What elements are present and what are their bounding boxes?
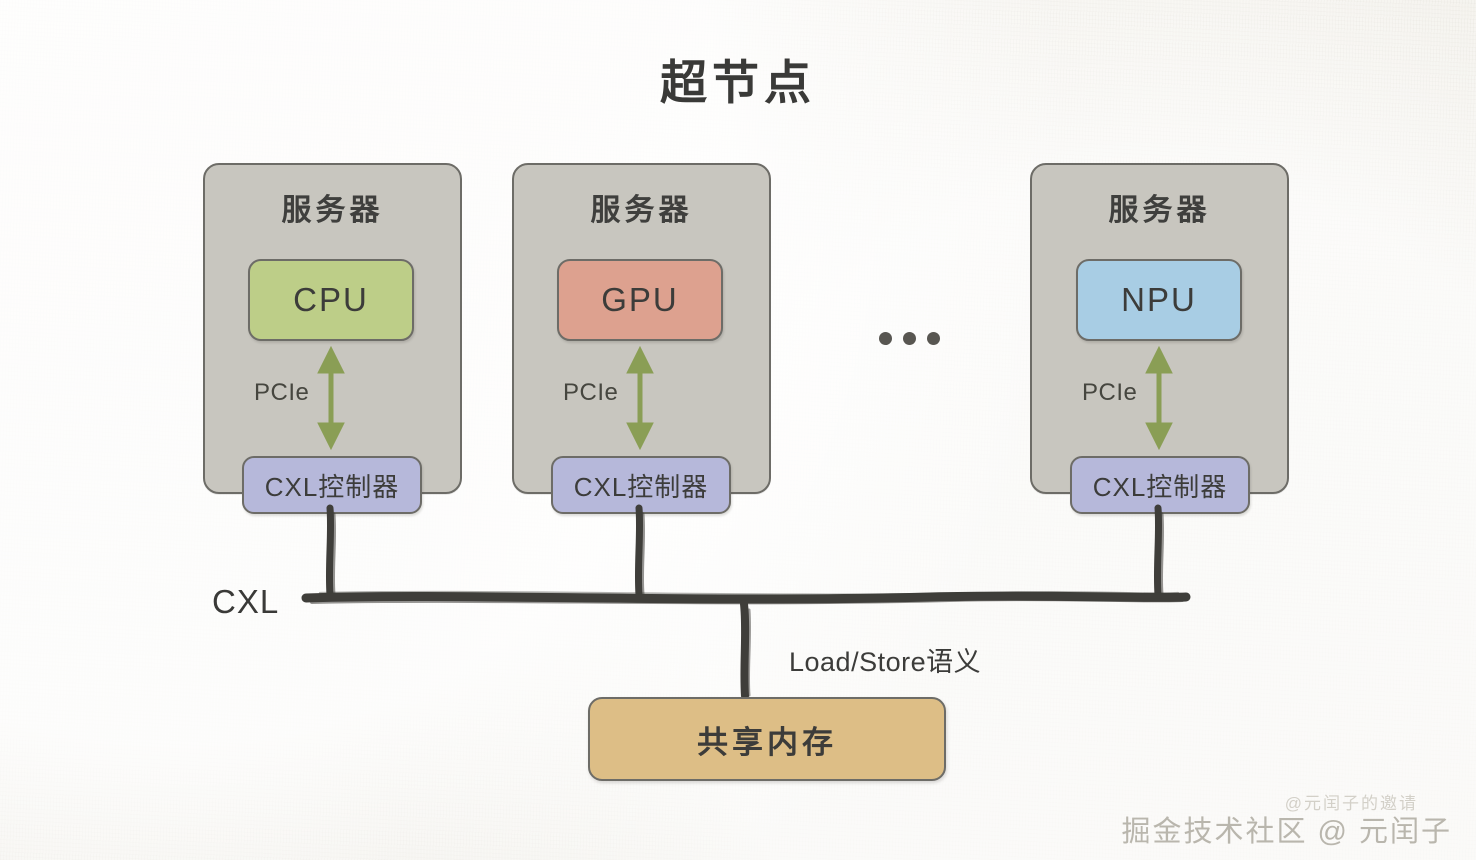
processor-chip-npu[interactable]: NPU — [1076, 259, 1242, 341]
server-label-2: 服务器 — [514, 185, 769, 229]
pcie-label-1: PCIe — [254, 379, 309, 407]
slide-canvas: 超节点 服务器 CPU PCIe CXL控制器 服务器 GPU — [0, 0, 1476, 860]
ellipsis-dot-2 — [903, 332, 916, 345]
processor-chip-npu-label: NPU — [1121, 281, 1197, 319]
pcie-label-3: PCIe — [1082, 379, 1137, 407]
server-label-3: 服务器 — [1032, 185, 1287, 229]
page-title: 超节点 — [0, 44, 1476, 113]
processor-chip-gpu-label: GPU — [601, 281, 679, 319]
pcie-link-1: PCIe — [248, 343, 410, 453]
servers-ellipsis — [879, 332, 940, 345]
cxl-controller-label-1: CXL控制器 — [265, 467, 400, 504]
shared-memory-box[interactable]: 共享内存 — [588, 697, 946, 781]
shared-memory-connector-stroke — [718, 600, 778, 700]
pcie-label-2: PCIe — [563, 379, 618, 407]
load-store-label: Load/Store语义 — [789, 640, 981, 679]
shared-memory-connector — [718, 600, 778, 700]
processor-chip-gpu[interactable]: GPU — [557, 259, 723, 341]
processor-chip-cpu-label: CPU — [293, 281, 369, 319]
ellipsis-dot-1 — [879, 332, 892, 345]
cxl-controller-label-3: CXL控制器 — [1093, 467, 1228, 504]
pcie-link-2: PCIe — [557, 343, 719, 453]
server-label-1: 服务器 — [205, 185, 460, 229]
ellipsis-dot-3 — [927, 332, 940, 345]
cxl-controller-label-2: CXL控制器 — [574, 467, 709, 504]
footer-credit: 掘金技术社区 @ 元闰子 — [1121, 808, 1452, 850]
cxl-bus-label: CXL — [212, 583, 279, 621]
shared-memory-label: 共享内存 — [697, 717, 837, 762]
processor-chip-cpu[interactable]: CPU — [248, 259, 414, 341]
pcie-link-3: PCIe — [1076, 343, 1238, 453]
